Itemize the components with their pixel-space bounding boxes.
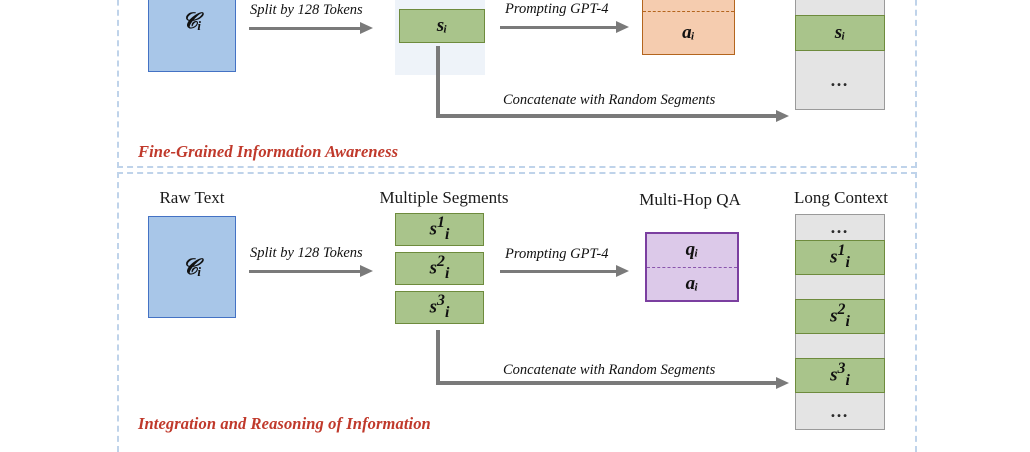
figure-canvas: 𝒞ᵢ Split by 128 Tokens sᵢ Prompting GPT-… — [0, 0, 1030, 438]
arrow-head-prompting-bottom — [616, 265, 629, 277]
column-header-raw-text: Raw Text — [132, 188, 252, 208]
arrow-label-concat-bottom: Concatenate with Random Segments — [503, 362, 715, 379]
panel-caption-integration-reasoning: Integration and Reasoning of Information — [138, 414, 431, 434]
qa-answer-top: aᵢ — [643, 12, 734, 54]
context-cell-filler: … — [795, 214, 885, 240]
qa-question-bottom: qᵢ — [647, 234, 737, 268]
elbow-horizontal-top — [436, 114, 779, 118]
context-cell-segment-3: s3i — [795, 358, 885, 393]
arrow-head-concat-bottom — [776, 377, 789, 389]
arrow-line-prompting-top — [500, 26, 618, 29]
context-cell-filler: … — [795, 0, 885, 15]
context-cell-segment-2: s2i — [795, 299, 885, 334]
context-cell-filler — [795, 275, 885, 299]
context-cell-segment: sᵢ — [795, 15, 885, 51]
raw-text-box-top: 𝒞ᵢ — [148, 0, 236, 72]
segment-label-1: s1i — [430, 214, 450, 244]
column-header-segments: Multiple Segments — [364, 188, 524, 208]
arrow-label-split-top: Split by 128 Tokens — [250, 2, 363, 19]
arrow-line-prompting-bottom — [500, 270, 618, 273]
qa-box-single-hop: qᵢ aᵢ — [642, 0, 735, 55]
arrow-label-prompting-bottom: Prompting GPT-4 — [505, 246, 609, 263]
elbow-vertical-bottom — [436, 330, 440, 385]
column-header-qa: Multi-Hop QA — [620, 190, 760, 210]
qa-answer-bottom: aᵢ — [647, 268, 737, 301]
context-cell-filler — [795, 334, 885, 358]
arrow-head-split-top — [360, 22, 373, 34]
raw-text-box-bottom: 𝒞ᵢ — [148, 216, 236, 318]
arrow-label-concat-top: Concatenate with Random Segments — [503, 92, 715, 109]
long-context-stack-top: … sᵢ … — [795, 0, 885, 110]
arrow-line-split-bottom — [249, 270, 362, 273]
arrow-label-split-bottom: Split by 128 Tokens — [250, 245, 363, 262]
context-cell-filler: … — [795, 51, 885, 110]
elbow-horizontal-bottom — [436, 381, 779, 385]
arrow-head-split-bottom — [360, 265, 373, 277]
segment-box-top: sᵢ — [399, 9, 485, 43]
segment-label-3: s3i — [430, 292, 450, 322]
segment-box-1: s1i — [395, 213, 484, 246]
panel-caption-fine-grained: Fine-Grained Information Awareness — [138, 142, 398, 162]
arrow-line-split-top — [249, 27, 362, 30]
arrow-head-concat-top — [776, 110, 789, 122]
qa-box-multi-hop: qᵢ aᵢ — [645, 232, 739, 302]
segment-label-2: s2i — [430, 253, 450, 283]
column-header-long-context: Long Context — [780, 188, 902, 208]
context-cell-segment-1: s1i — [795, 240, 885, 275]
arrow-head-prompting-top — [616, 21, 629, 33]
long-context-stack-bottom: … s1i s2i s3i … — [795, 214, 885, 430]
arrow-label-prompting-top: Prompting GPT-4 — [505, 1, 609, 18]
segment-box-3: s3i — [395, 291, 484, 324]
elbow-vertical-top — [436, 46, 440, 118]
context-cell-filler: … — [795, 393, 885, 430]
qa-question-top: qᵢ — [643, 0, 734, 12]
segment-box-2: s2i — [395, 252, 484, 285]
